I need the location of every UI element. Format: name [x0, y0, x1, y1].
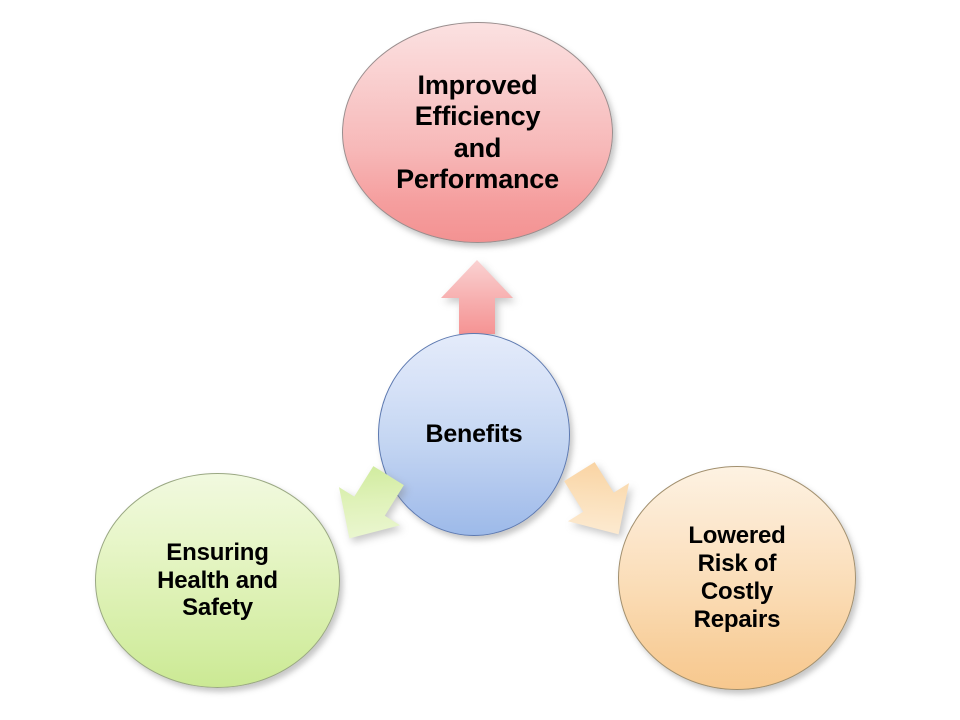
benefits-diagram: Improved Efficiency and Performance Bene…: [0, 0, 960, 720]
node-ensuring-health-and-safety[interactable]: Ensuring Health and Safety: [95, 473, 340, 688]
arrow-up-icon: [437, 258, 517, 336]
node-lowered-risk-of-costly-repairs[interactable]: Lowered Risk of Costly Repairs: [618, 466, 856, 690]
arrow-down-left-icon: [329, 466, 409, 548]
node-label-efficiency: Improved Efficiency and Performance: [388, 70, 567, 195]
node-label-health: Ensuring Health and Safety: [149, 539, 286, 622]
node-improved-efficiency-and-performance[interactable]: Improved Efficiency and Performance: [342, 22, 613, 243]
node-label-repairs: Lowered Risk of Costly Repairs: [680, 522, 793, 633]
node-label-benefits: Benefits: [417, 420, 530, 449]
